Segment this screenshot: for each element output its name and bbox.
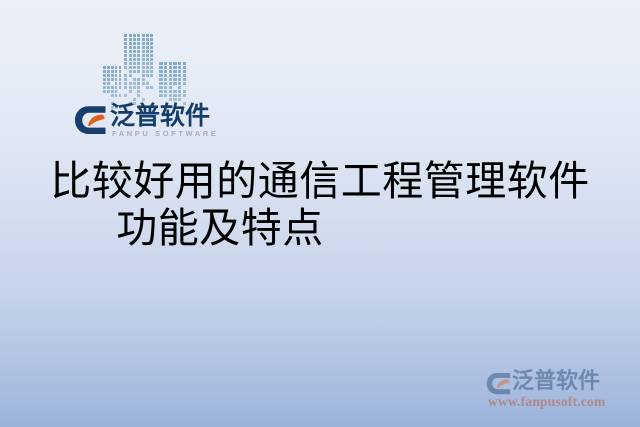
page-title-line-1: 比较好用的通信工程管理软件	[0, 158, 640, 205]
watermark-url: www.fanpusoft.com	[488, 394, 605, 410]
fanpu-swoosh-leaf-logo-icon	[74, 105, 108, 135]
logo-name-cn: 泛普软件	[110, 103, 210, 129]
page-title-line-2: 功能及特点	[0, 205, 640, 252]
logo-name-en: FANPU SOFTWARE	[112, 129, 218, 138]
promo-banner: 泛普软件 FANPU SOFTWARE 比较好用的通信工程管理软件 功能及特点 …	[0, 0, 640, 427]
watermark: 泛普软件 www.fanpusoft.com	[484, 368, 636, 416]
fanpu-logo: 泛普软件 FANPU SOFTWARE	[74, 103, 196, 140]
watermark-fanpu-swoosh-leaf-logo-icon	[486, 372, 512, 395]
watermark-name-cn: 泛普软件	[512, 369, 600, 393]
page-title: 比较好用的通信工程管理软件 功能及特点	[0, 158, 640, 252]
